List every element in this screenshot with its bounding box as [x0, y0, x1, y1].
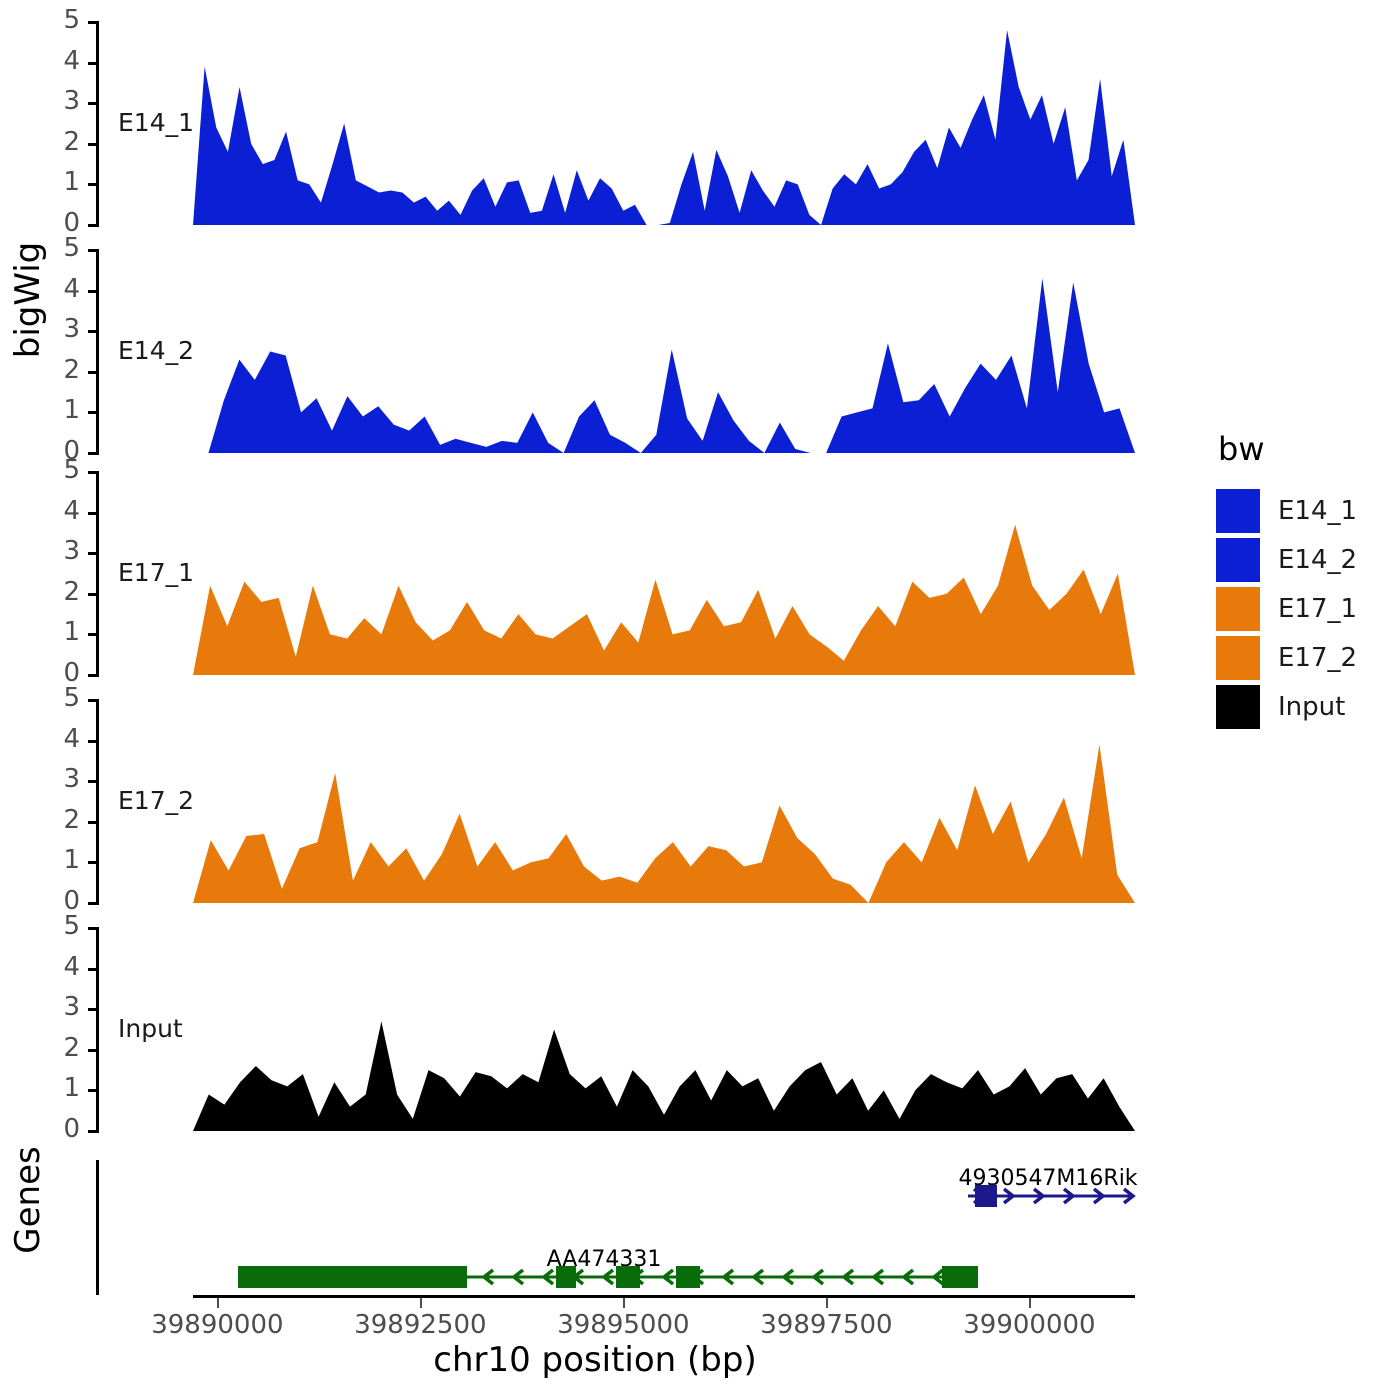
y-axis-tick-label: 3: [20, 538, 80, 564]
y-axis-tick: [88, 371, 99, 374]
y-axis-tick-label: 3: [20, 994, 80, 1020]
y-axis-tick: [88, 593, 99, 596]
y-axis-spine: [96, 472, 99, 675]
coverage-area-input: [193, 928, 1135, 1131]
y-axis-tick: [88, 330, 99, 333]
legend-swatch: [1216, 538, 1260, 582]
track-label-e14_1: E14_1: [118, 108, 194, 137]
y-axis-tick: [88, 968, 99, 971]
y-axis-tick-label: 3: [20, 88, 80, 114]
track-label-e17_2: E17_2: [118, 786, 194, 815]
y-axis-tick-label: 3: [20, 766, 80, 792]
y-axis-tick: [88, 821, 99, 824]
y-axis-tick: [88, 699, 99, 702]
legend-label: E14_1: [1278, 496, 1357, 526]
legend-swatch: [1216, 587, 1260, 631]
y-axis-tick-label: 4: [20, 954, 80, 980]
y-axis-tick-label: 1: [20, 619, 80, 645]
y-axis-tick-label: 2: [20, 129, 80, 155]
y-axis-tick: [88, 452, 99, 455]
legend-item-input[interactable]: Input: [1216, 682, 1396, 731]
legend-item-e14_1[interactable]: E14_1: [1216, 486, 1396, 535]
y-axis-tick-label: 5: [20, 235, 80, 261]
y-axis-tick-label: 1: [20, 1075, 80, 1101]
legend-label: E14_2: [1278, 545, 1357, 575]
x-axis-title: chr10 position (bp): [0, 1340, 1190, 1380]
legend-item-e17_1[interactable]: E17_1: [1216, 584, 1396, 633]
legend-label: E17_1: [1278, 594, 1357, 624]
x-axis-tick: [826, 1298, 828, 1308]
track-label-e17_1: E17_1: [118, 558, 194, 587]
legend: bw E14_1E14_2E17_1E17_2Input: [1216, 430, 1396, 731]
x-axis-tick: [420, 1298, 422, 1308]
y-axis-tick-label: 2: [20, 357, 80, 383]
y-axis-tick-label: 1: [20, 169, 80, 195]
y-axis-tick: [88, 183, 99, 186]
x-axis-tick: [623, 1298, 625, 1308]
y-axis-spine: [96, 928, 99, 1131]
y-axis-tick: [88, 674, 99, 677]
coverage-area-e14_1: [193, 22, 1135, 225]
y-axis-tick-label: 4: [20, 498, 80, 524]
y-axis-tick: [88, 1130, 99, 1133]
x-axis-tick: [1029, 1298, 1031, 1308]
track-label-e14_2: E14_2: [118, 336, 194, 365]
y-axis-tick: [88, 143, 99, 146]
y-axis-tick: [88, 102, 99, 105]
legend-swatch: [1216, 636, 1260, 680]
x-axis-tick-label: 39897500: [760, 1310, 892, 1340]
y-axis-tick-label: 5: [20, 685, 80, 711]
y-axis-tick: [88, 249, 99, 252]
legend-label: E17_2: [1278, 643, 1357, 673]
x-axis-tick-label: 39890000: [151, 1310, 283, 1340]
legend-swatch: [1216, 685, 1260, 729]
gene-model-4930547m16rik[interactable]: [0, 1182, 1200, 1210]
y-axis-tick-label: 1: [20, 847, 80, 873]
y-axis-tick: [88, 633, 99, 636]
y-axis-spine: [96, 22, 99, 225]
y-axis-tick: [88, 1008, 99, 1011]
coverage-area-e17_2: [193, 700, 1135, 903]
genome-browser-figure: bigWig Genes 543210E14_1543210E14_254321…: [0, 0, 1400, 1400]
y-axis-tick-label: 0: [20, 1116, 80, 1142]
legend-items: E14_1E14_2E17_1E17_2Input: [1216, 486, 1396, 731]
x-axis-line: [193, 1295, 1135, 1298]
y-axis-tick-label: 4: [20, 276, 80, 302]
x-axis-tick-label: 39900000: [963, 1310, 1095, 1340]
y-axis-tick: [88, 552, 99, 555]
y-axis-spine: [96, 250, 99, 453]
coverage-area-e17_1: [193, 472, 1135, 675]
legend-label: Input: [1278, 692, 1345, 722]
y-axis-tick-label: 3: [20, 316, 80, 342]
x-axis-tick-label: 39892500: [354, 1310, 486, 1340]
legend-swatch: [1216, 489, 1260, 533]
y-axis-tick: [88, 1049, 99, 1052]
y-axis-tick: [88, 902, 99, 905]
y-axis-tick-label: 4: [20, 48, 80, 74]
legend-title: bw: [1218, 430, 1396, 468]
y-axis-tick-label: 5: [20, 457, 80, 483]
y-axis-tick: [88, 861, 99, 864]
y-axis-tick: [88, 411, 99, 414]
legend-item-e17_2[interactable]: E17_2: [1216, 633, 1396, 682]
y-axis-tick: [88, 224, 99, 227]
y-axis-tick: [88, 290, 99, 293]
y-axis-tick-label: 1: [20, 397, 80, 423]
y-axis-tick: [88, 62, 99, 65]
x-axis-tick: [217, 1298, 219, 1308]
y-axis-tick-label: 2: [20, 1035, 80, 1061]
y-axis-tick-label: 5: [20, 7, 80, 33]
y-axis-tick: [88, 471, 99, 474]
y-axis-tick: [88, 927, 99, 930]
y-axis-spine: [96, 700, 99, 903]
y-axis-tick-label: 4: [20, 726, 80, 752]
y-axis-tick: [88, 512, 99, 515]
x-axis-tick-label: 39895000: [557, 1310, 689, 1340]
coverage-area-e14_2: [193, 250, 1135, 453]
y-axis-tick: [88, 780, 99, 783]
y-axis-tick: [88, 21, 99, 24]
y-axis-tick: [88, 740, 99, 743]
gene-model-aa474331[interactable]: [0, 1263, 1200, 1291]
y-axis-tick-label: 5: [20, 913, 80, 939]
track-label-input: Input: [118, 1014, 183, 1043]
y-axis-tick-label: 2: [20, 807, 80, 833]
y-axis-tick-label: 2: [20, 579, 80, 605]
y-axis-tick: [88, 1089, 99, 1092]
legend-item-e14_2[interactable]: E14_2: [1216, 535, 1396, 584]
